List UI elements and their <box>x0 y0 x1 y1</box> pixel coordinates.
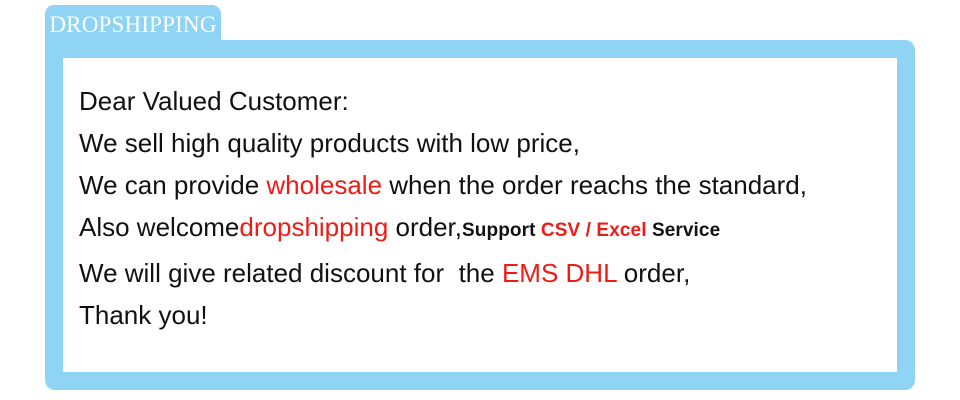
message-line-wholesale: We can provide wholesale when the order … <box>79 164 897 206</box>
message-segment: dropshipping <box>239 212 388 242</box>
message-line-thanks: Thank you! <box>79 294 897 336</box>
message-segment: Also welcome <box>79 212 239 242</box>
dropshipping-tab-label: DROPSHIPPING <box>49 13 216 36</box>
message-segment: Dear Valued Customer: <box>79 86 349 116</box>
dropshipping-banner: DROPSHIPPING Dear Valued Customer:We sel… <box>0 0 960 400</box>
message-segment: order, <box>617 258 691 288</box>
message-line-shipping-discount: We will give related discount for the EM… <box>79 252 897 294</box>
message-segment: Thank you! <box>79 300 208 330</box>
message-segment: when the order reachs the standard, <box>382 170 807 200</box>
message-segment: CSV / Excel <box>541 220 647 241</box>
message-lines: Dear Valued Customer:We sell high qualit… <box>79 80 897 336</box>
dropshipping-tab: DROPSHIPPING <box>45 5 221 45</box>
message-segment: Service <box>647 220 721 241</box>
message-segment: EMS DHL <box>502 258 617 288</box>
message-segment: wholesale <box>266 170 382 200</box>
message-line-dropshipping-order: Also welcomedropshipping order,Support C… <box>79 206 897 252</box>
message-segment: We can provide <box>79 170 266 200</box>
message-line-quality: We sell high quality products with low p… <box>79 122 897 164</box>
message-panel: Dear Valued Customer:We sell high qualit… <box>63 58 897 372</box>
message-segment: order, <box>388 212 462 242</box>
message-segment: We will give related discount for the <box>79 258 502 288</box>
message-line-greeting: Dear Valued Customer: <box>79 80 897 122</box>
message-segment: Support <box>462 220 541 241</box>
message-segment: We sell high quality products with low p… <box>79 128 580 158</box>
